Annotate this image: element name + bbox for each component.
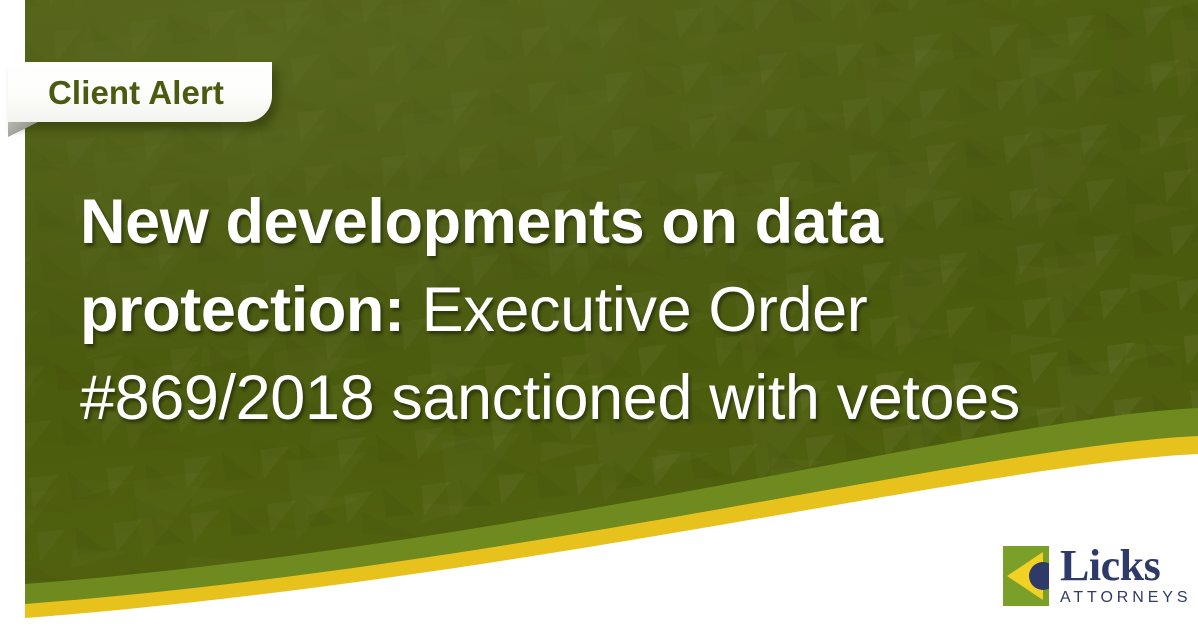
client-alert-banner: Client Alert New developments on data pr… [0,0,1198,627]
ribbon-body: Client Alert [8,62,272,122]
ribbon-label: Client Alert [48,76,224,109]
licks-attorneys-logo[interactable]: Licks ATTORNEYS [1003,546,1191,608]
logo-name: Licks [1060,546,1191,586]
headline: New developments on data protection: Exe… [80,178,1100,442]
logo-wordmark: Licks ATTORNEYS [1060,546,1191,608]
client-alert-ribbon: Client Alert [8,62,272,122]
logo-subtitle: ATTORNEYS [1060,586,1191,608]
brazil-flag-mark-icon [1003,546,1049,606]
